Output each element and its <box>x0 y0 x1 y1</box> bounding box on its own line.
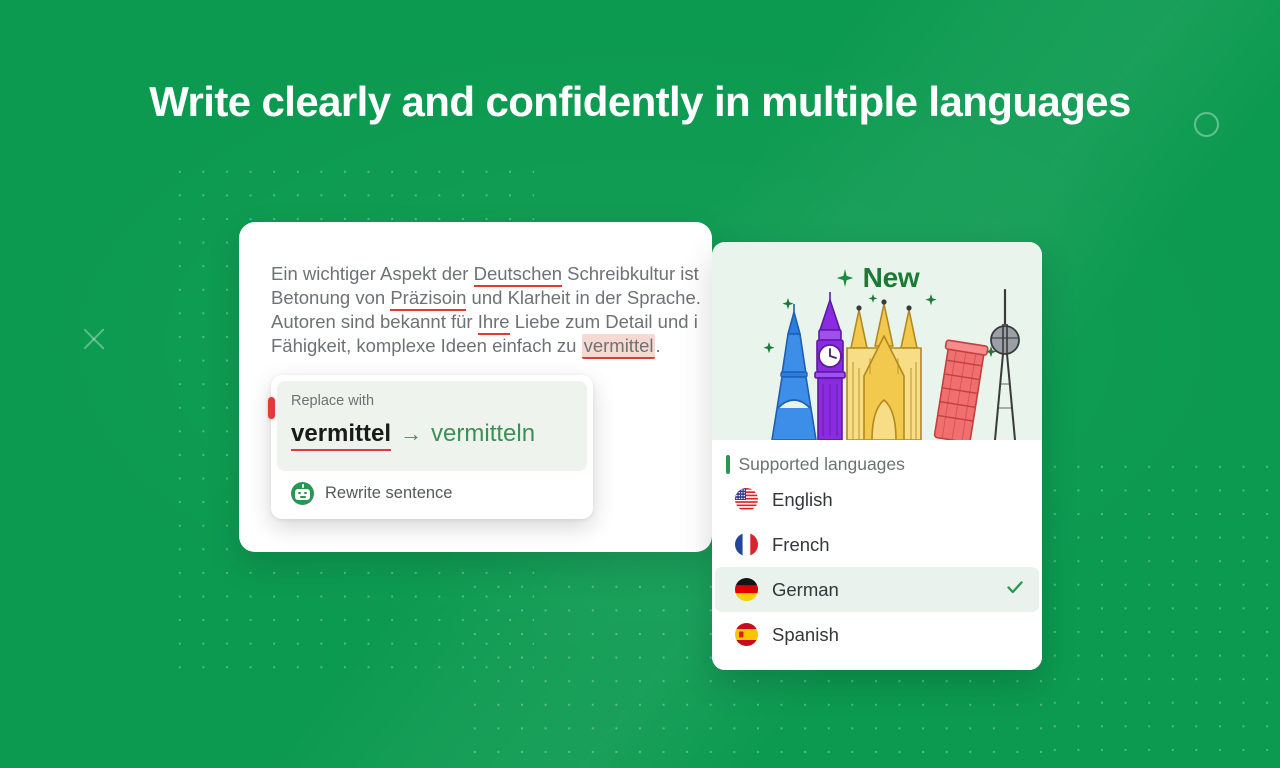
spelling-error[interactable]: Ihre <box>478 311 510 335</box>
header-accent-bar <box>726 455 730 474</box>
sagrada-familia-icon <box>847 299 921 440</box>
flag-es-icon <box>735 623 758 646</box>
berlin-tv-tower-icon <box>991 290 1019 440</box>
language-promo-card: New <box>712 242 1042 670</box>
language-item-german[interactable]: German <box>715 567 1039 612</box>
flag-fr-icon <box>735 533 758 556</box>
text-run: Ein wichtiger Aspekt der <box>271 263 474 284</box>
flag-de-icon <box>735 578 758 601</box>
supported-languages-panel: Supported languages EnglishFrenchGermanS… <box>712 440 1042 670</box>
language-item-french[interactable]: French <box>715 522 1039 567</box>
document-text: Ein wichtiger Aspekt der Deutschen Schre… <box>271 262 712 358</box>
text-run: Fähigkeit, komplexe Ideen einfach zu <box>271 335 582 356</box>
robot-icon <box>291 482 314 505</box>
check-icon <box>1005 487 1025 512</box>
dot-pattern-right <box>1043 455 1280 768</box>
original-word: vermittel <box>291 420 391 451</box>
suggestion-label: Replace with <box>291 393 573 410</box>
promo-hero: New <box>712 242 1042 440</box>
replacement-word: vermitteln <box>431 420 535 448</box>
language-label: Spanish <box>772 624 991 646</box>
text-run: Schreibkultur ist <box>562 263 699 284</box>
arrow-right-icon: → <box>400 421 422 447</box>
eiffel-tower-icon <box>772 304 816 440</box>
page-title: Write clearly and confidently in multipl… <box>0 78 1280 126</box>
text-run: . <box>655 335 660 356</box>
language-label: German <box>772 579 991 601</box>
check-icon <box>1005 532 1025 557</box>
big-ben-icon <box>815 292 845 440</box>
supported-languages-header: Supported languages <box>712 451 1042 477</box>
document-line: Betonung von Präzisoin und Klarheit in d… <box>271 286 712 310</box>
rewrite-sentence-label: Rewrite sentence <box>325 484 452 503</box>
check-icon <box>1005 622 1025 647</box>
rewrite-sentence-button[interactable]: Rewrite sentence <box>291 482 452 505</box>
flag-us-icon <box>735 488 758 511</box>
suggestion-body: Replace with vermittel → vermitteln <box>277 381 587 471</box>
cross-decoration-icon <box>80 325 108 353</box>
text-run: Betonung von <box>271 287 390 308</box>
page-background: Write clearly and confidently in multipl… <box>0 0 1280 768</box>
world-landmarks-illustration <box>712 288 1042 440</box>
spelling-error[interactable]: Präzisoin <box>390 287 466 311</box>
text-run: Liebe zum Detail und i <box>510 311 698 332</box>
document-line: Autoren sind bekannt für Ihre Liebe zum … <box>271 310 712 334</box>
supported-languages-label: Supported languages <box>739 454 905 475</box>
suggestion-popup[interactable]: Replace with vermittel → vermitteln Rewr… <box>271 375 593 519</box>
document-line: Fähigkeit, komplexe Ideen einfach zu ver… <box>271 334 712 358</box>
suggestion-replacement-row[interactable]: vermittel → vermitteln <box>291 420 573 451</box>
check-icon <box>1005 577 1025 602</box>
error-marker-icon <box>268 397 275 419</box>
text-run: und Klarheit in der Sprache. <box>466 287 700 308</box>
leaning-tower-of-pisa-icon <box>931 340 988 440</box>
language-item-english[interactable]: English <box>715 477 1039 522</box>
spelling-error[interactable]: Deutschen <box>474 263 562 287</box>
language-label: English <box>772 489 991 511</box>
language-item-spanish[interactable]: Spanish <box>715 612 1039 657</box>
text-run: Autoren sind bekannt für <box>271 311 478 332</box>
language-list: EnglishFrenchGermanSpanish <box>712 477 1042 657</box>
sparkle-icon <box>835 268 855 288</box>
active-spelling-error[interactable]: vermittel <box>582 334 656 359</box>
language-label: French <box>772 534 991 556</box>
document-line: Ein wichtiger Aspekt der Deutschen Schre… <box>271 262 712 286</box>
